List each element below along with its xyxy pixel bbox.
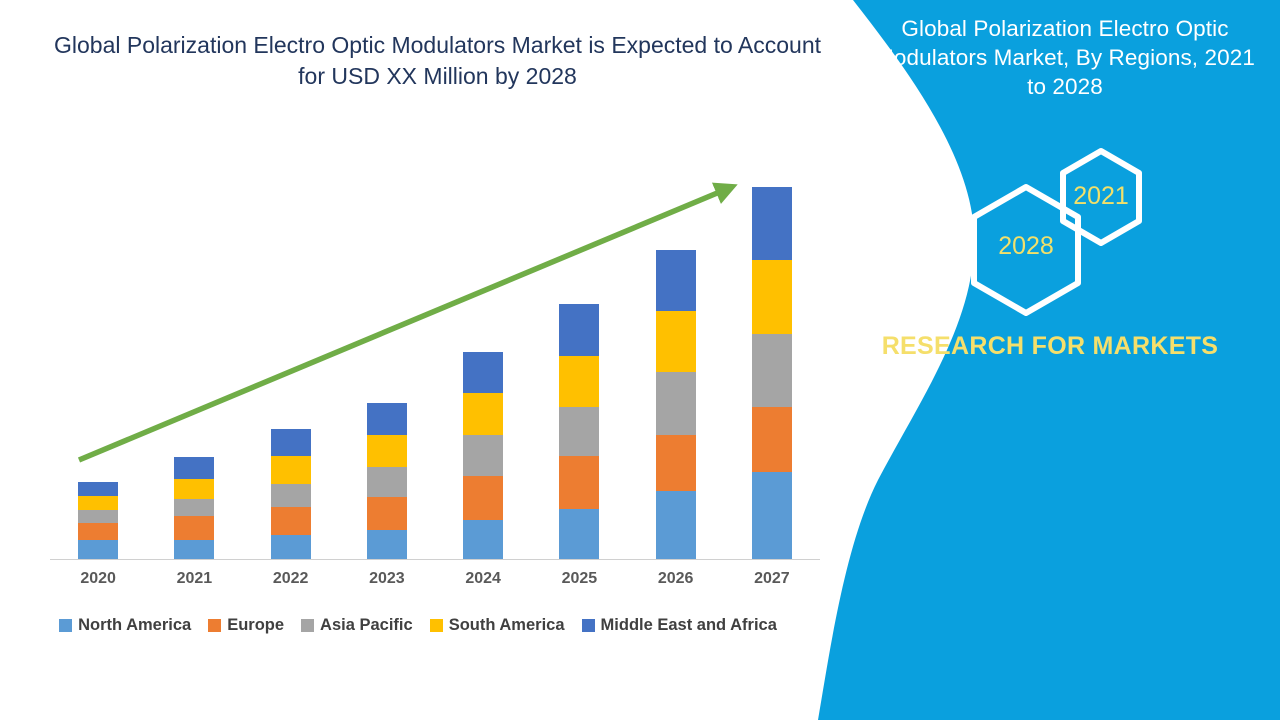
bar-segment[interactable] [463, 520, 503, 560]
bar-segment[interactable] [463, 352, 503, 393]
bar-segment[interactable] [367, 497, 407, 530]
bar-segment[interactable] [174, 479, 214, 499]
bar-group[interactable] [463, 352, 503, 560]
bar-segment[interactable] [752, 407, 792, 472]
x-axis-label: 2020 [58, 570, 138, 588]
legend-item[interactable]: Asia Pacific [301, 616, 413, 635]
brand-name: RESEARCH FOR MARKETS [860, 330, 1240, 362]
bar-segment[interactable] [78, 540, 118, 560]
chart-panel: Global Polarization Electro Optic Modula… [0, 0, 840, 720]
bar-segment[interactable] [174, 516, 214, 539]
legend-label: North America [78, 616, 191, 635]
page-title: Global Polarization Electro Optic Modula… [40, 30, 835, 92]
legend-label: South America [449, 616, 565, 635]
bar-segment[interactable] [559, 509, 599, 560]
bar-segment[interactable] [752, 187, 792, 260]
legend-item[interactable]: Europe [208, 616, 284, 635]
legend-label: Asia Pacific [320, 616, 413, 635]
bar-segment[interactable] [463, 393, 503, 435]
bar-segment[interactable] [656, 435, 696, 491]
legend-item[interactable]: North America [59, 616, 191, 635]
x-axis-line [50, 559, 820, 560]
bar-segment[interactable] [559, 407, 599, 456]
bar-segment[interactable] [656, 311, 696, 372]
bar-segment[interactable] [656, 491, 696, 560]
legend-item[interactable]: South America [430, 616, 565, 635]
hex-badge-2028-label: 2028 [965, 232, 1087, 261]
legend-swatch-icon [208, 619, 221, 632]
legend-label: Middle East and Africa [601, 616, 777, 635]
bar-group[interactable] [752, 187, 792, 560]
bar-segment[interactable] [271, 456, 311, 484]
bar-segment[interactable] [78, 482, 118, 496]
bar-segment[interactable] [656, 372, 696, 435]
bar-group[interactable] [271, 429, 311, 560]
bar-segment[interactable] [367, 403, 407, 435]
x-axis-label: 2024 [443, 570, 523, 588]
bar-segment[interactable] [78, 510, 118, 523]
legend-item[interactable]: Middle East and Africa [582, 616, 777, 635]
bar-group[interactable] [174, 457, 214, 560]
x-axis-label: 2025 [539, 570, 619, 588]
legend-swatch-icon [301, 619, 314, 632]
bar-segment[interactable] [367, 530, 407, 560]
x-axis-label: 2021 [154, 570, 234, 588]
bar-group[interactable] [78, 482, 118, 560]
bar-segment[interactable] [271, 507, 311, 534]
legend-swatch-icon [582, 619, 595, 632]
bar-segment[interactable] [656, 250, 696, 312]
bar-segment[interactable] [174, 540, 214, 561]
bar-segment[interactable] [367, 467, 407, 496]
x-axis-labels: 20202021202220232024202520262027 [50, 570, 820, 600]
x-axis-label: 2026 [636, 570, 716, 588]
bar-segment[interactable] [174, 457, 214, 479]
bar-segment[interactable] [174, 499, 214, 517]
bar-segment[interactable] [752, 260, 792, 333]
bar-segment[interactable] [271, 429, 311, 455]
bar-segment[interactable] [271, 484, 311, 507]
chart-legend: North AmericaEuropeAsia PacificSouth Ame… [0, 616, 836, 635]
bar-group[interactable] [367, 403, 407, 560]
bar-segment[interactable] [752, 472, 792, 560]
bar-segment[interactable] [559, 304, 599, 356]
bar-segment[interactable] [463, 476, 503, 520]
bar-segment[interactable] [78, 523, 118, 541]
legend-swatch-icon [59, 619, 72, 632]
bar-segment[interactable] [752, 334, 792, 407]
x-axis-label: 2022 [251, 570, 331, 588]
bar-segment[interactable] [271, 535, 311, 560]
bar-group[interactable] [559, 304, 599, 560]
bar-segment[interactable] [559, 456, 599, 510]
stacked-bar-plot [50, 170, 820, 560]
bar-segment[interactable] [463, 435, 503, 476]
panel-title: Global Polarization Electro Optic Modula… [870, 14, 1260, 101]
hex-badge-2028: 2028 [965, 182, 1087, 318]
bar-segment[interactable] [78, 496, 118, 511]
bar-segment[interactable] [559, 356, 599, 407]
legend-label: Europe [227, 616, 284, 635]
infographic-page: Global Polarization Electro Optic Modula… [0, 0, 1280, 720]
bar-group[interactable] [656, 250, 696, 560]
brand-panel: Global Polarization Electro Optic Modula… [800, 0, 1280, 720]
bar-segment[interactable] [367, 435, 407, 467]
x-axis-label: 2023 [347, 570, 427, 588]
legend-swatch-icon [430, 619, 443, 632]
